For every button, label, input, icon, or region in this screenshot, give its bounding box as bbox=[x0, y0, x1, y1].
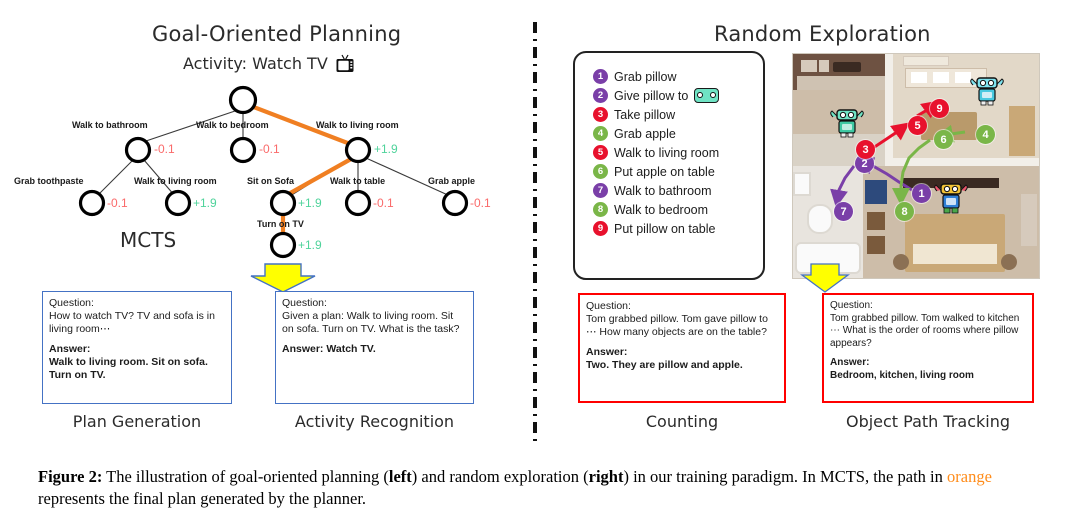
qa-answer-label: Answer: bbox=[586, 346, 778, 359]
legend-item: 4Grab apple bbox=[593, 124, 763, 143]
node-value-bedroom: -0.1 bbox=[259, 143, 280, 155]
figure-root: Goal-Oriented Planning Activity: Watch T… bbox=[0, 0, 1080, 529]
edge-label-turn-on-tv: Turn on TV bbox=[257, 219, 304, 229]
qa-answer-text: Bedroom, kitchen, living room bbox=[830, 370, 1026, 383]
legend-item: 2Give pillow to bbox=[593, 86, 763, 105]
floorplan-marker-3: 3 bbox=[856, 140, 875, 159]
qa-answer-text: Two. They are pillow and apple. bbox=[586, 359, 778, 372]
legend-item: 8Walk to bedroom bbox=[593, 200, 763, 219]
legend-label: Put apple on table bbox=[614, 165, 715, 179]
legend-label: Grab pillow bbox=[614, 70, 677, 84]
qa-question-text: Given a plan: Walk to living room. Sit o… bbox=[282, 310, 467, 336]
legend-badge-4: 4 bbox=[593, 126, 608, 141]
legend-badge-2: 2 bbox=[593, 88, 608, 103]
legend-item: 7Walk to bathroom bbox=[593, 181, 763, 200]
floorplan-marker-1: 1 bbox=[912, 184, 931, 203]
caption-bold-left: left bbox=[389, 467, 412, 486]
right-panel-title: Random Exploration bbox=[714, 22, 931, 46]
caption-object-path-tracking: Object Path Tracking bbox=[822, 412, 1034, 431]
caption-bold-right: right bbox=[589, 467, 624, 486]
legend-badge-9: 9 bbox=[593, 221, 608, 236]
robot-blue bbox=[933, 182, 969, 219]
caption-part-1: The illustration of goal-oriented planni… bbox=[102, 467, 389, 486]
qa-question-label: Question: bbox=[830, 300, 1026, 313]
legend-item: 6Put apple on table bbox=[593, 162, 763, 181]
figure-number: Figure 2: bbox=[38, 467, 102, 486]
legend-badge-8: 8 bbox=[593, 202, 608, 217]
edge-label-walk-to-table: Walk to table bbox=[330, 176, 385, 186]
qa-box-activity-recognition: Question: Given a plan: Walk to living r… bbox=[275, 291, 474, 404]
panel-divider bbox=[530, 22, 540, 442]
legend-label: Give pillow to bbox=[614, 89, 688, 103]
mcts-label: MCTS bbox=[120, 228, 176, 252]
caption-counting: Counting bbox=[578, 412, 786, 431]
robot-green bbox=[829, 108, 865, 143]
action-legend: 1Grab pillow2Give pillow to3Take pillow4… bbox=[573, 51, 765, 280]
legend-item: 9Put pillow on table bbox=[593, 219, 763, 238]
qa-answer-label: Answer: bbox=[830, 357, 1026, 370]
qa-answer-label: Answer: bbox=[49, 343, 225, 356]
edge-label-walk-to-bathroom: Walk to bathroom bbox=[72, 120, 148, 130]
node-value-toothpaste: -0.1 bbox=[107, 197, 128, 209]
qa-question-label: Question: bbox=[586, 300, 778, 313]
robot-icon bbox=[694, 88, 719, 103]
qa-box-plan-generation: Question: How to watch TV? TV and sofa i… bbox=[42, 291, 232, 404]
legend-item: 5Walk to living room bbox=[593, 143, 763, 162]
floorplan-marker-4: 4 bbox=[976, 125, 995, 144]
caption-plan-generation: Plan Generation bbox=[42, 412, 232, 431]
floorplan-marker-5: 5 bbox=[908, 116, 927, 135]
qa-question-label: Question: bbox=[282, 297, 467, 310]
qa-box-object-path-tracking: Question: Tom grabbed pillow. Tom walked… bbox=[822, 293, 1034, 403]
caption-part-2: ) and random exploration ( bbox=[412, 467, 589, 486]
qa-question-text: How to watch TV? TV and sofa is in livin… bbox=[49, 310, 225, 336]
legend-item: 3Take pillow bbox=[593, 105, 763, 124]
floorplan-image: 123456789 bbox=[792, 53, 1040, 279]
robot-cyan bbox=[969, 76, 1005, 111]
edge-label-walk-to-bedroom: Walk to bedroom bbox=[196, 120, 269, 130]
edge-label-sit-on-sofa: Sit on Sofa bbox=[247, 176, 294, 186]
floorplan-marker-8: 8 bbox=[895, 202, 914, 221]
node-value-living-room: +1.9 bbox=[374, 143, 398, 155]
mcts-tree-edges bbox=[0, 0, 530, 270]
legend-badge-5: 5 bbox=[593, 145, 608, 160]
caption-part-3: ) in our training paradigm. In MCTS, the… bbox=[623, 467, 947, 486]
legend-label: Walk to bedroom bbox=[614, 203, 708, 217]
floorplan-marker-7: 7 bbox=[834, 202, 853, 221]
caption-activity-recognition: Activity Recognition bbox=[275, 412, 474, 431]
qa-question-text: Tom grabbed pillow. Tom walked to kitche… bbox=[830, 313, 1026, 351]
caption-orange-word: orange bbox=[947, 467, 992, 486]
edge-label-grab-apple: Grab apple bbox=[428, 176, 475, 186]
node-value-apple: -0.1 bbox=[470, 197, 491, 209]
legend-badge-6: 6 bbox=[593, 164, 608, 179]
edge-label-walk-to-living-room-1: Walk to living room bbox=[316, 120, 399, 130]
node-value-sofa: +1.9 bbox=[298, 197, 322, 209]
qa-box-counting: Question: Tom grabbed pillow. Tom gave p… bbox=[578, 293, 786, 403]
qa-answer-text: Walk to living room. Sit on sofa. Turn o… bbox=[49, 356, 225, 382]
legend-badge-7: 7 bbox=[593, 183, 608, 198]
legend-label: Walk to living room bbox=[614, 146, 719, 160]
legend-item: 1Grab pillow bbox=[593, 67, 763, 86]
right-flow-arrow bbox=[800, 263, 850, 293]
qa-question-text: Tom grabbed pillow. Tom gave pillow to ⋯… bbox=[586, 313, 778, 339]
figure-caption: Figure 2: The illustration of goal-orien… bbox=[38, 466, 1050, 510]
legend-label: Put pillow on table bbox=[614, 222, 715, 236]
floorplan-marker-9: 9 bbox=[930, 99, 949, 118]
floorplan-marker-6: 6 bbox=[934, 130, 953, 149]
node-value-living-room-2: +1.9 bbox=[193, 197, 217, 209]
legend-label: Walk to bathroom bbox=[614, 184, 712, 198]
node-value-bathroom: -0.1 bbox=[154, 143, 175, 155]
legend-label: Take pillow bbox=[614, 108, 675, 122]
node-value-tv: +1.9 bbox=[298, 239, 322, 251]
legend-label: Grab apple bbox=[614, 127, 676, 141]
edge-label-grab-toothpaste: Grab toothpaste bbox=[14, 176, 84, 186]
legend-badge-1: 1 bbox=[593, 69, 608, 84]
legend-badge-3: 3 bbox=[593, 107, 608, 122]
left-flow-arrow bbox=[247, 263, 319, 293]
node-value-table: -0.1 bbox=[373, 197, 394, 209]
edge-label-walk-to-living-room-2: Walk to living room bbox=[134, 176, 217, 186]
qa-answer-label: Answer: Watch TV. bbox=[282, 343, 467, 356]
qa-question-label: Question: bbox=[49, 297, 225, 310]
caption-part-4: represents the final plan generated by t… bbox=[38, 489, 366, 508]
